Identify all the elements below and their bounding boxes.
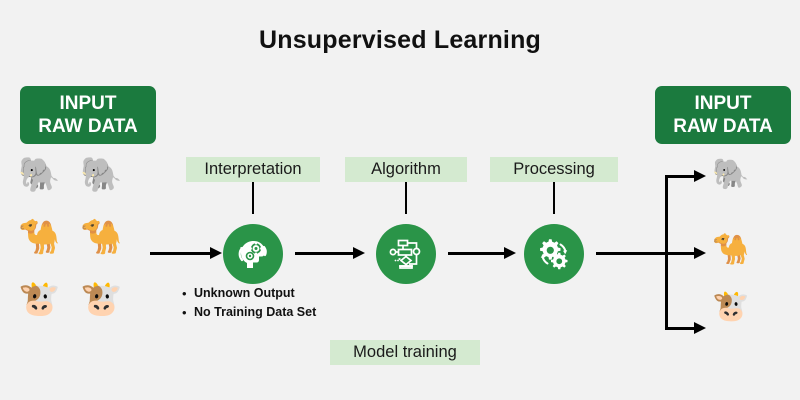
diagram-canvas: Unsupervised Learning INPUT RAW DATA INP… xyxy=(0,0,800,400)
gears-icon xyxy=(535,235,573,273)
input-box-left-line1: INPUT xyxy=(60,92,117,115)
input-box-right-line1: INPUT xyxy=(695,92,752,115)
camel-icon: 🐪 xyxy=(712,235,749,265)
stage-label-interpretation: Interpretation xyxy=(186,157,320,182)
page-title: Unsupervised Learning xyxy=(0,26,800,55)
arrow-head-icon xyxy=(694,170,706,182)
flowchart-icon xyxy=(387,235,425,273)
arrow-head-icon xyxy=(210,247,222,259)
bullet-list: • Unknown Output • No Training Data Set xyxy=(182,284,316,322)
input-raw-data-box-right: INPUT RAW DATA xyxy=(655,86,791,144)
bullet-marker: • xyxy=(182,303,194,322)
bullet-marker: • xyxy=(182,284,194,303)
stage-label-processing: Processing xyxy=(490,157,618,182)
camel-icon: 🐪 xyxy=(18,220,60,254)
arrow-head-icon xyxy=(694,247,706,259)
stage-label-algorithm: Algorithm xyxy=(345,157,467,182)
input-box-right-line2: RAW DATA xyxy=(673,115,773,138)
arrow-input-to-interpretation xyxy=(150,252,212,255)
stage-circle-algorithm xyxy=(376,224,436,284)
cow-icon: 🐮 xyxy=(18,282,60,316)
bullet-text: No Training Data Set xyxy=(194,303,316,322)
connector-stem-processing xyxy=(553,182,555,214)
model-training-label: Model training xyxy=(330,340,480,365)
elephant-icon: 🐘 xyxy=(80,158,122,192)
arrow-interpretation-to-algorithm xyxy=(295,252,355,255)
arrow-algorithm-to-processing xyxy=(448,252,506,255)
input-box-left-line2: RAW DATA xyxy=(38,115,138,138)
arrow-branch-top xyxy=(665,175,696,178)
stage-circle-interpretation xyxy=(223,224,283,284)
elephant-icon: 🐘 xyxy=(712,160,749,190)
elephant-icon: 🐘 xyxy=(18,158,60,192)
bullet-text: Unknown Output xyxy=(194,284,295,303)
connector-stem-algorithm xyxy=(405,182,407,214)
camel-icon: 🐪 xyxy=(80,220,122,254)
arrow-head-icon xyxy=(504,247,516,259)
arrow-processing-to-output-middle xyxy=(596,252,696,255)
connector-stem-interpretation xyxy=(252,182,254,214)
list-item: • No Training Data Set xyxy=(182,303,316,322)
arrow-head-icon xyxy=(353,247,365,259)
cow-icon: 🐮 xyxy=(712,292,749,322)
arrow-head-icon xyxy=(694,322,706,334)
list-item: • Unknown Output xyxy=(182,284,316,303)
output-branch-vertical-line xyxy=(665,175,668,330)
head-with-gears-icon xyxy=(234,235,272,273)
input-raw-data-box-left: INPUT RAW DATA xyxy=(20,86,156,144)
arrow-branch-bottom xyxy=(665,327,696,330)
cow-icon: 🐮 xyxy=(80,282,122,316)
stage-circle-processing xyxy=(524,224,584,284)
